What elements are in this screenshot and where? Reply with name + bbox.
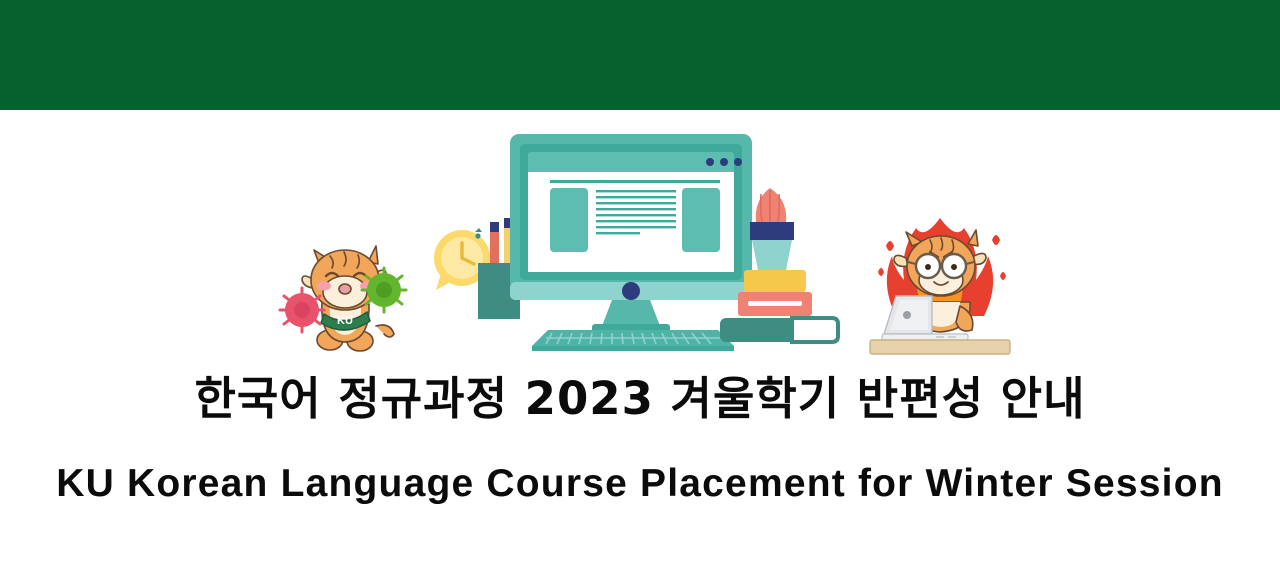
monitor-icon [510, 134, 752, 334]
top-green-banner [0, 0, 1280, 110]
keyboard-icon [532, 330, 734, 351]
desktop-computer-scene-icon [420, 130, 860, 360]
ku-tiger-studying-mascot-icon [860, 210, 1020, 360]
poster-page: KU [0, 0, 1280, 562]
monitor-power-dot-icon [622, 282, 640, 300]
page-subtitle-english: KU Korean Language Course Placement for … [0, 462, 1280, 506]
page-title-korean: 한국어 정규과정 2023 겨울학기 반편성 안내 [0, 362, 1280, 427]
mascot-sash-label: KU [337, 315, 353, 327]
illustration-area: KU [0, 110, 1280, 360]
ku-tiger-cheerleader-mascot-icon: KU [272, 222, 412, 362]
desk-icon [870, 340, 1010, 354]
